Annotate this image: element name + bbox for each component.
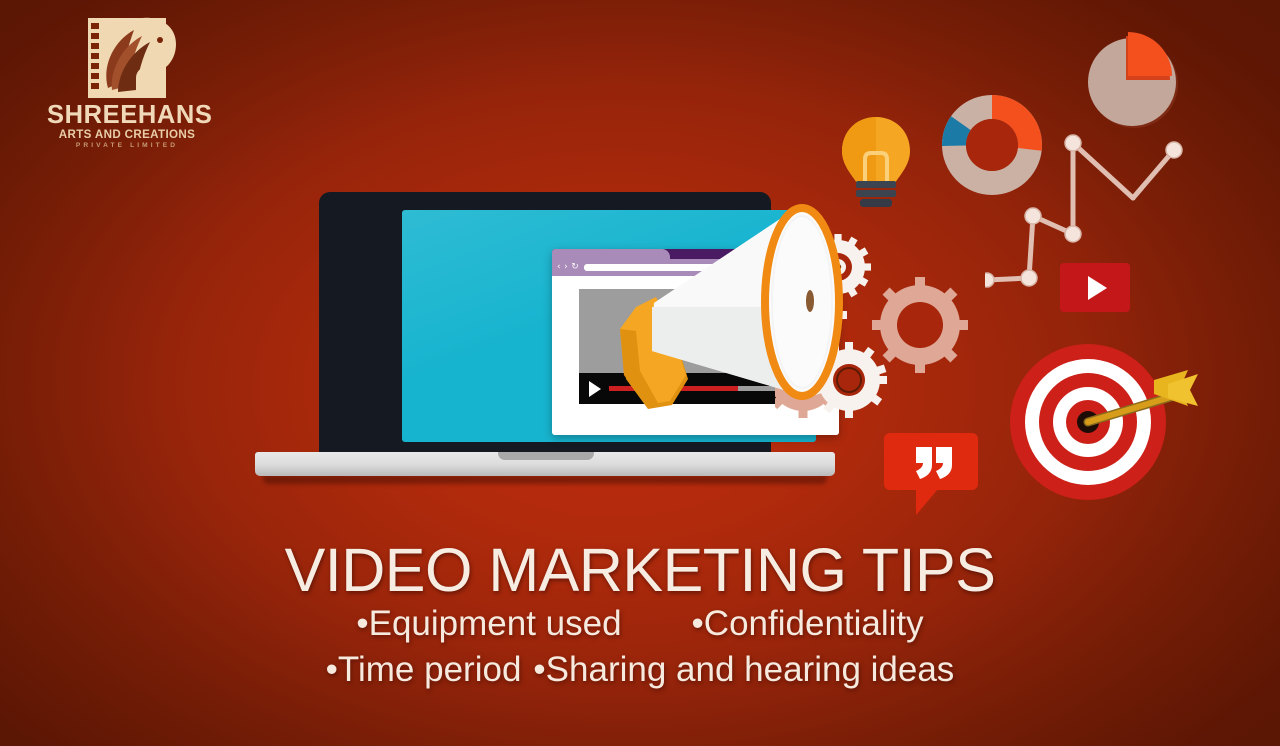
bullet-row-2: •Time period•Sharing and hearing ideas [0, 647, 1280, 693]
laptop-base [255, 452, 835, 476]
bullet-time-period: •Time period [326, 647, 522, 693]
quote-bubble-icon [882, 431, 980, 521]
play-triangle-icon [1088, 276, 1107, 300]
brand-entity: PRIVATE LIMITED [47, 142, 207, 150]
laptop-base-notch [498, 452, 594, 460]
target-bullseye-icon [1008, 342, 1208, 502]
page-title: VIDEO MARKETING TIPS [0, 540, 1280, 601]
megaphone-icon [596, 183, 861, 443]
laptop-base-shadow [263, 475, 827, 484]
back-icon[interactable]: ‹ [557, 263, 561, 272]
brand-tagline: ARTS AND CREATIONS [47, 128, 207, 141]
bullet-row-1: •Equipment used•Confidentiality [0, 601, 1280, 647]
forward-icon[interactable]: › [564, 263, 568, 272]
lightbulb-icon [831, 113, 921, 213]
headline-block: VIDEO MARKETING TIPS •Equipment used•Con… [0, 540, 1280, 693]
reload-icon[interactable]: ↻ [571, 263, 579, 272]
poster-canvas: SHREEHANS ARTS AND CREATIONS PRIVATE LIM… [0, 0, 1280, 746]
bullet-confidentiality: •Confidentiality [692, 601, 924, 647]
bullet-equipment-used: •Equipment used [356, 601, 621, 647]
bullet-sharing-hearing-ideas: •Sharing and hearing ideas [533, 647, 954, 693]
brand-logo[interactable]: SHREEHANS ARTS AND CREATIONS PRIVATE LIM… [47, 16, 207, 150]
video-play-badge-icon[interactable] [1060, 263, 1130, 312]
brand-name: SHREEHANS [47, 102, 207, 128]
pie-chart-icon [1080, 28, 1184, 132]
swan-filmstrip-logo-icon [72, 16, 182, 100]
